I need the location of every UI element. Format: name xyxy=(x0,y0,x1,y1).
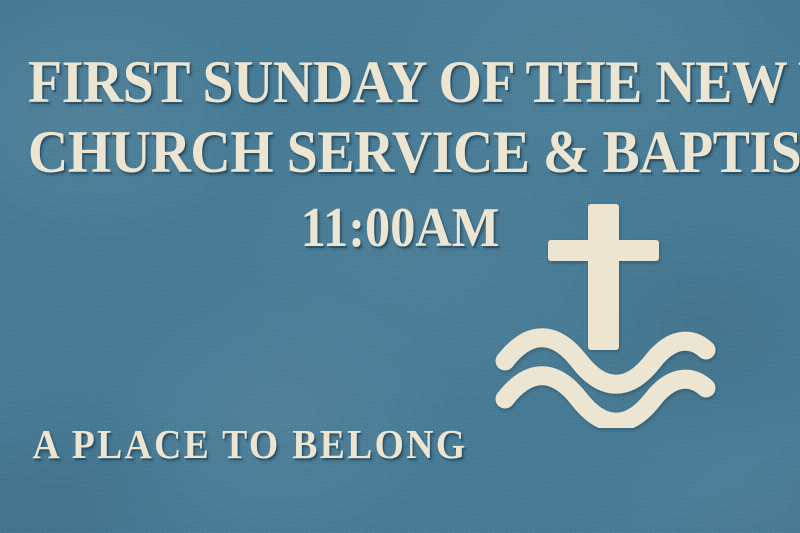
headline-line-2: CHURCH SERVICE & BAPTISM xyxy=(28,122,772,182)
cross-icon xyxy=(548,204,659,350)
headline-line-1: FIRST SUNDAY OF THE NEW YEAR xyxy=(28,52,772,112)
tagline: A PLACE TO BELONG xyxy=(20,424,480,465)
cross-and-water-icon xyxy=(495,198,720,428)
church-service-banner: FIRST SUNDAY OF THE NEW YEAR CHURCH SERV… xyxy=(0,0,800,533)
